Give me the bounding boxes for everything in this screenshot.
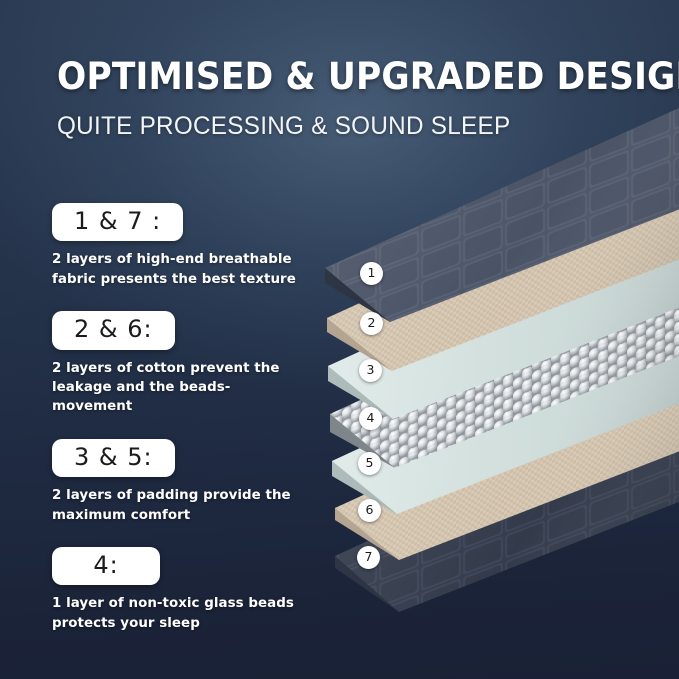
- callout-pill-1: 1 & 7 :: [52, 203, 183, 241]
- layer-badge-3: 3: [359, 359, 382, 382]
- callout-item-1: 1 & 7 : 2 layers of high-end breathable …: [52, 203, 322, 289]
- callout-pill-1-label: 1 & 7 :: [74, 207, 161, 235]
- callout-pill-3: 3 & 5:: [52, 439, 175, 477]
- layer-badge-4: 4: [359, 407, 382, 430]
- callout-pill-2: 2 & 6:: [52, 311, 175, 349]
- callout-text-1: 2 layers of high-end breathable fabric p…: [52, 250, 310, 289]
- callout-pill-4-label: 4:: [93, 551, 118, 579]
- layer-badge-2: 2: [360, 312, 383, 335]
- layer-badge-1-label: 1: [368, 267, 376, 280]
- layer-badge-5: 5: [358, 452, 381, 475]
- callout-item-4: 4: 1 layer of non-toxic glass beads prot…: [52, 547, 322, 633]
- layer-badge-4-label: 4: [367, 412, 375, 425]
- layer-badge-2-label: 2: [368, 317, 376, 330]
- layer-badge-7: 7: [357, 546, 380, 569]
- layer-badge-6-label: 6: [366, 504, 374, 517]
- callout-pill-3-label: 3 & 5:: [74, 443, 153, 471]
- callout-pill-2-label: 2 & 6:: [74, 315, 153, 343]
- callout-text-4: 1 layer of non-toxic glass beads protect…: [52, 594, 310, 633]
- callout-item-3: 3 & 5: 2 layers of padding provide the m…: [52, 439, 322, 525]
- layer-badge-7-label: 7: [365, 551, 373, 564]
- callout-pill-4: 4:: [52, 547, 160, 585]
- layer-badge-6: 6: [358, 499, 381, 522]
- layer-badge-5-label: 5: [366, 457, 374, 470]
- layer-badge-1: 1: [360, 262, 383, 285]
- callout-text-3: 2 layers of padding provide the maximum …: [52, 486, 310, 525]
- callout-item-2: 2 & 6: 2 layers of cotton prevent the le…: [52, 311, 322, 417]
- product-infographic: OPTIMISED & UPGRADED DESIGN QUITE PROCES…: [0, 0, 679, 679]
- callout-text-2: 2 layers of cotton prevent the leakage a…: [52, 359, 310, 417]
- layer-badge-3-label: 3: [367, 364, 375, 377]
- callout-list: 1 & 7 : 2 layers of high-end breathable …: [52, 203, 322, 655]
